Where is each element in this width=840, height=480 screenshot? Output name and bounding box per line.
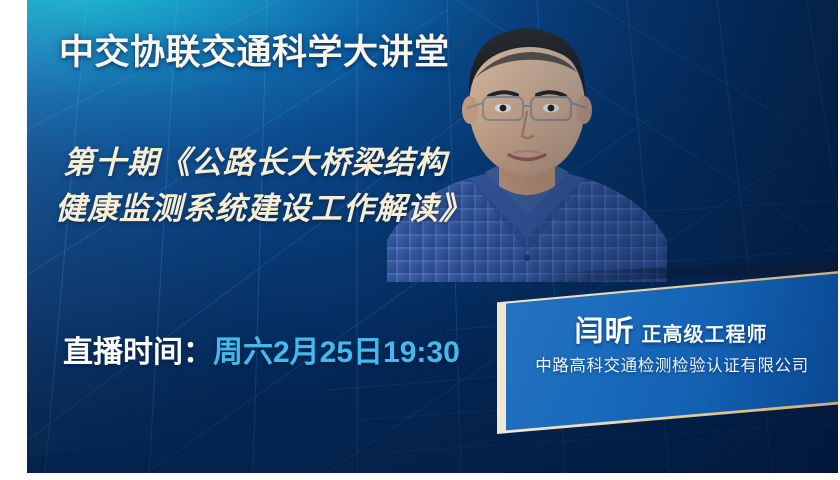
subtitle-line-2: 健康监测系统建设工作解读》 [55,186,583,232]
live-time-value: 周六2月25日19:30 [213,336,460,369]
panel-text-group: 闫昕正高级工程师 中路高科交通检测检验认证有限公司 [497,268,838,440]
speaker-organization: 中路高科交通检测检验认证有限公司 [497,352,838,376]
speaker-name: 闫昕 [574,316,634,348]
page-title: 中交协联交通科学大讲堂 [59,24,450,75]
speaker-name-row: 闫昕正高级工程师 [497,308,838,350]
poster-frame: 中交协联交通科学大讲堂 第十期《公路长大桥梁结构 健康监测系统建设工作解读》 直… [0,0,840,480]
live-time-label: 直播时间： [63,336,213,369]
live-time-row: 直播时间：周六2月25日19:30 [63,327,460,371]
speaker-title: 正高级工程师 [642,324,768,346]
session-subtitle: 第十期《公路长大桥梁结构 健康监测系统建设工作解读》 [63,140,583,232]
subtitle-line-1: 第十期《公路长大桥梁结构 [63,145,447,180]
speaker-info-panel: 闫昕正高级工程师 中路高科交通检测检验认证有限公司 [497,268,838,440]
poster-artwork: 中交协联交通科学大讲堂 第十期《公路长大桥梁结构 健康监测系统建设工作解读》 直… [27,0,838,473]
